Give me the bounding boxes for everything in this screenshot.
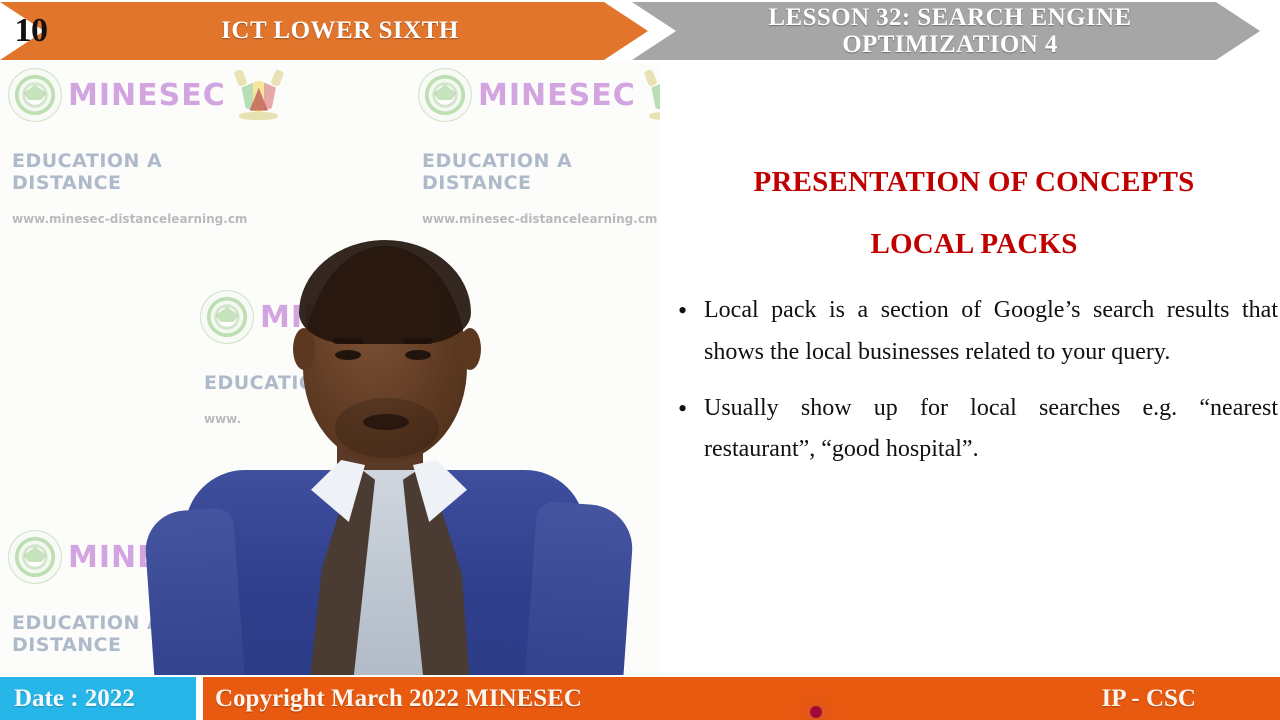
header-banner: 10 ICT LOWER SIXTH LESSON 32: SEARCH ENG… [0, 0, 1280, 62]
slide-content-pane: PRESENTATION OF CONCEPTS LOCAL PACKS • L… [660, 62, 1280, 675]
watermark-subtitle: EDUCATION A DISTANCE [422, 150, 660, 194]
lesson-title-line1: LESSON 32: SEARCH ENGINE [768, 4, 1131, 31]
ip-label: IP - CSC [1102, 677, 1196, 720]
presenter-brow-right [403, 338, 433, 344]
watermark-name: MINESEC [68, 78, 226, 113]
watermark-subtitle: EDUCATION A DISTANCE [12, 150, 258, 194]
presenter-video-pane[interactable]: MINESEC EDUCATION A DISTANCE www.minesec… [0, 62, 660, 675]
lesson-title-line2: OPTIMIZATION 4 [842, 31, 1058, 58]
date-label: Date : 2022 [0, 677, 196, 720]
minesec-seal-icon [8, 530, 62, 584]
minesec-seal-icon [418, 68, 472, 122]
lesson-title: LESSON 32: SEARCH ENGINE OPTIMIZATION 4 [660, 2, 1240, 60]
content-title-line1: PRESENTATION OF CONCEPTS [676, 166, 1272, 199]
list-item: • Usually show up for local searches e.g… [678, 388, 1278, 472]
content-title-line2: LOCAL PACKS [676, 228, 1272, 261]
watermark-name: MINESEC [478, 78, 636, 113]
coat-of-arms-icon [232, 69, 286, 121]
slide-number-badge: 10 [0, 2, 62, 60]
presenter-hair [299, 240, 471, 344]
slide-root: 10 ICT LOWER SIXTH LESSON 32: SEARCH ENG… [0, 0, 1280, 720]
list-item: • Local pack is a section of Google’s se… [678, 290, 1278, 374]
bullet-list: • Local pack is a section of Google’s se… [678, 290, 1278, 485]
presenter-brow-left [333, 338, 363, 344]
coat-of-arms-icon [642, 69, 660, 121]
bullet-text: Usually show up for local searches e.g. … [704, 388, 1278, 472]
copyright-text: Copyright March 2022 MINESEC [215, 677, 582, 720]
course-title: ICT LOWER SIXTH [70, 2, 610, 60]
presenter-mouth [363, 414, 409, 430]
bullet-marker-icon: • [678, 388, 704, 430]
presenter-figure [185, 202, 585, 675]
recording-indicator-icon [810, 706, 822, 718]
bullet-text: Local pack is a section of Google’s sear… [704, 290, 1278, 374]
bullet-marker-icon: • [678, 290, 704, 332]
footer-bar: Date : 2022 Copyright March 2022 MINESEC… [0, 675, 1280, 720]
presenter-eye-right [405, 350, 431, 360]
presenter-ear-left [293, 328, 315, 370]
presenter-ear-right [459, 328, 481, 370]
copyright-bar: Copyright March 2022 MINESEC IP - CSC [203, 677, 1280, 720]
minesec-seal-icon [8, 68, 62, 122]
presenter-eye-left [335, 350, 361, 360]
